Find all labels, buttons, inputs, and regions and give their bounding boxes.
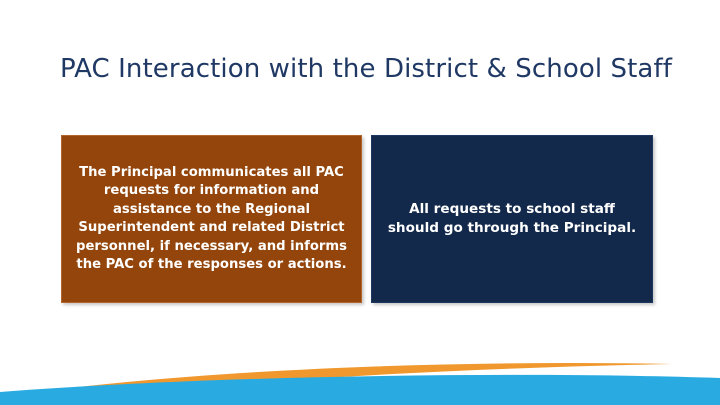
principal-communication-text: The Principal communicates all PAC reque… [72, 164, 351, 275]
requests-through-principal-box: All requests to school staff should go t… [371, 135, 653, 303]
footer-swoosh-decoration [0, 345, 720, 405]
page-title: PAC Interaction with the District & Scho… [60, 52, 660, 86]
slide-canvas: PAC Interaction with the District & Scho… [0, 0, 720, 405]
requests-through-principal-text: All requests to school staff should go t… [382, 200, 642, 238]
blue-swoosh-shape [0, 375, 720, 405]
principal-communication-box: The Principal communicates all PAC reque… [61, 135, 362, 303]
orange-swoosh-shape [0, 363, 672, 405]
